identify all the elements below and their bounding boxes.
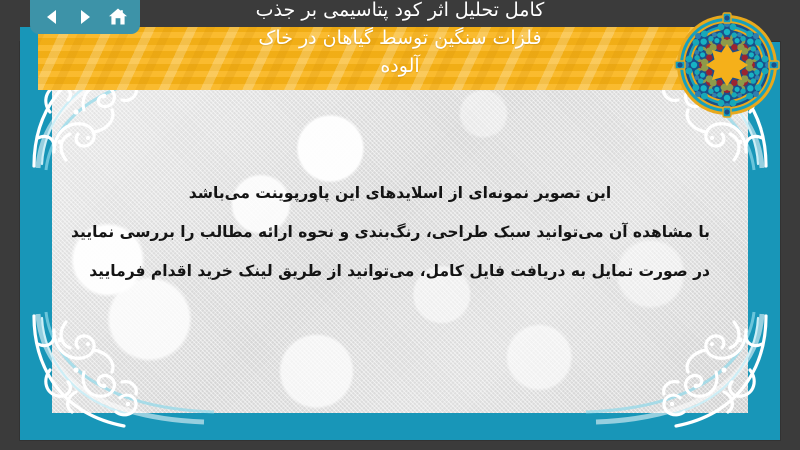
body-line-2: با مشاهده آن می‌توانید سبک طراحی، رنگ‌بن… xyxy=(90,213,710,252)
title-line-2: فلزات سنگین توسط گیاهان در خاک xyxy=(120,24,680,52)
title-line-3: آلوده xyxy=(120,52,680,80)
forward-button[interactable] xyxy=(73,5,97,29)
slide-navigation-bar xyxy=(30,0,140,34)
triangle-right-icon xyxy=(76,8,94,26)
triangle-left-icon xyxy=(43,8,61,26)
slide-title: کامل تحلیل اثر کود پتاسیمی بر جذب فلزات … xyxy=(120,0,680,80)
home-icon xyxy=(108,7,128,27)
slide-frame: این تصویر نمونه‌ای از اسلایدهای این پاور… xyxy=(20,42,780,440)
home-button[interactable] xyxy=(106,5,130,29)
slide-body-text: این تصویر نمونه‌ای از اسلایدهای این پاور… xyxy=(90,174,710,291)
back-button[interactable] xyxy=(40,5,64,29)
title-line-1: کامل تحلیل اثر کود پتاسیمی بر جذب xyxy=(120,0,680,24)
slide-viewer: این تصویر نمونه‌ای از اسلایدهای این پاور… xyxy=(0,0,800,450)
body-line-1: این تصویر نمونه‌ای از اسلایدهای این پاور… xyxy=(90,174,710,213)
body-line-3: در صورت تمایل به دریافت فایل کامل، می‌تو… xyxy=(90,252,710,291)
